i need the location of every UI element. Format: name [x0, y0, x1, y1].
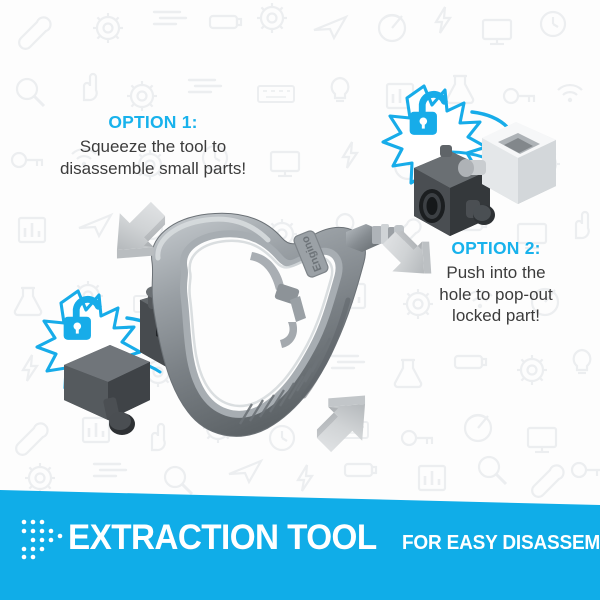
option-1-line-1: Squeeze the tool to [28, 136, 278, 158]
infographic-canvas: Engino [0, 0, 600, 600]
option-1-line-2: disassemble small parts! [28, 158, 278, 180]
dot-chevron-logo-icon [18, 516, 66, 560]
bottom-banner: EXTRACTION TOOL FOR EASY DISASSEMBLY [0, 470, 600, 600]
option-2-line-3: locked part! [398, 305, 594, 327]
banner-title: EXTRACTION TOOL [68, 518, 377, 558]
option-2-line-2: hole to pop-out [398, 284, 594, 306]
option-2-heading: OPTION 2: [398, 238, 594, 260]
banner-title-group: EXTRACTION TOOL FOR EASY DISASSEMBLY [68, 518, 600, 558]
option-2-line-1: Push into the [398, 262, 594, 284]
callout-option-2: OPTION 2: Push into the hole to pop-out … [398, 238, 594, 327]
option-1-heading: OPTION 1: [28, 112, 278, 134]
callout-option-1: OPTION 1: Squeeze the tool to disassembl… [28, 112, 278, 179]
arrow-up-left-icon [303, 379, 386, 462]
banner-subtitle: FOR EASY DISASSEMBLY [402, 532, 600, 555]
